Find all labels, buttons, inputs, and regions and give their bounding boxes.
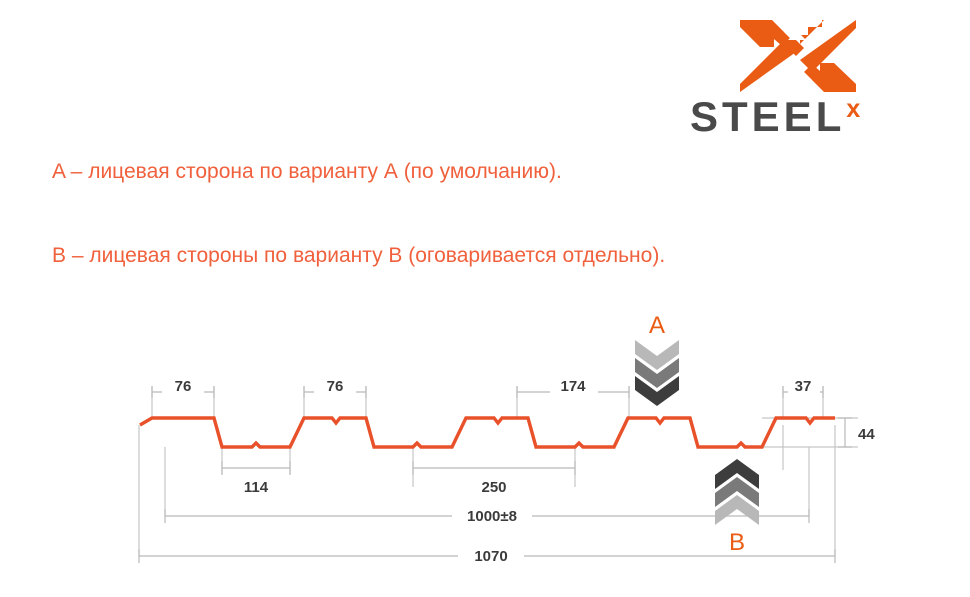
dimension-trough-width: 114: [222, 461, 290, 496]
chevron-up-triple-icon: [715, 459, 759, 525]
dimension-label-174: 174: [560, 378, 586, 395]
dimension-effective-width: 1000±8: [165, 506, 809, 525]
dimension-pitch: 250: [413, 461, 575, 496]
dimension-label-250: 250: [481, 479, 506, 496]
side-b-marker: B: [715, 459, 759, 556]
chevron-down-triple-icon: [635, 340, 679, 406]
side-a-marker: A: [635, 312, 679, 406]
profile-outline: [140, 418, 835, 447]
profile-drawing: 76 76 114 250 174 37: [0, 0, 970, 597]
dimension-label-114: 114: [244, 479, 269, 496]
dimension-label-44: 44: [858, 426, 875, 443]
dimension-label-1000: 1000±8: [467, 508, 517, 525]
dimension-rib-spacing: 174: [517, 378, 629, 398]
dimension-crest-width-2: 76: [304, 378, 366, 398]
dimension-height: 44: [838, 418, 875, 447]
dimension-crest-width-1: 76: [152, 378, 214, 398]
dimension-end-crest-width: 37: [783, 378, 823, 398]
side-a-label: A: [649, 312, 665, 339]
side-b-label: B: [729, 529, 745, 556]
dimension-label-1070: 1070: [474, 548, 507, 565]
dimension-label-76-right: 76: [327, 378, 344, 395]
dimension-label-37: 37: [795, 378, 812, 395]
dimension-label-76-left: 76: [175, 378, 192, 395]
